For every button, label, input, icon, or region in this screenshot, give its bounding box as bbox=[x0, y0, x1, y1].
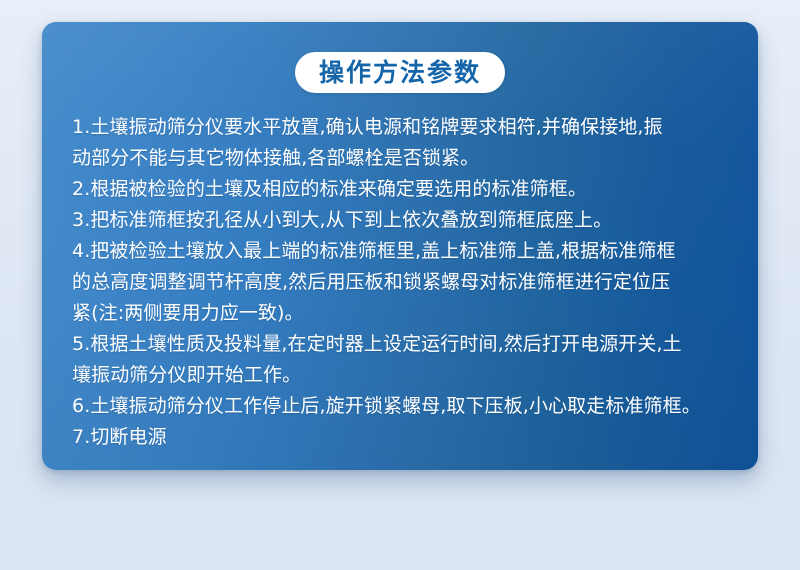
instruction-list: 1.土壤振动筛分仪要水平放置,确认电源和铭牌要求相符,并确保接地,振 动部分不能… bbox=[72, 112, 735, 453]
instruction-line: 6.土壤振动筛分仪工作停止后,旋开锁紧螺母,取下压板,小心取走标准筛框。 bbox=[72, 391, 735, 422]
title-pill: 操作方法参数 bbox=[295, 52, 505, 93]
instruction-line: 4.把被检验土壤放入最上端的标准筛框里,盖上标准筛上盖,根据标准筛框 bbox=[72, 236, 735, 267]
instruction-line: 壤振动筛分仪即开始工作。 bbox=[72, 360, 735, 391]
instruction-line: 的总高度调整调节杆高度,然后用压板和锁紧螺母对标准筛框进行定位压 bbox=[72, 267, 735, 298]
page-title: 操作方法参数 bbox=[319, 60, 481, 85]
instruction-line: 2.根据被检验的土壤及相应的标准来确定要选用的标准筛框。 bbox=[72, 174, 735, 205]
instruction-line: 动部分不能与其它物体接触,各部螺栓是否锁紧。 bbox=[72, 143, 735, 174]
instruction-line: 5.根据土壤性质及投料量,在定时器上设定运行时间,然后打开电源开关,土 bbox=[72, 329, 735, 360]
page-root: 操作方法参数 1.土壤振动筛分仪要水平放置,确认电源和铭牌要求相符,并确保接地,… bbox=[0, 0, 800, 570]
instruction-line: 紧(注:两侧要用力应一致)。 bbox=[72, 298, 735, 329]
instruction-line: 1.土壤振动筛分仪要水平放置,确认电源和铭牌要求相符,并确保接地,振 bbox=[72, 112, 735, 143]
instruction-line: 3.把标准筛框按孔径从小到大,从下到上依次叠放到筛框底座上。 bbox=[72, 205, 735, 236]
instruction-card: 操作方法参数 1.土壤振动筛分仪要水平放置,确认电源和铭牌要求相符,并确保接地,… bbox=[42, 22, 758, 470]
instruction-line: 7.切断电源 bbox=[72, 422, 735, 453]
